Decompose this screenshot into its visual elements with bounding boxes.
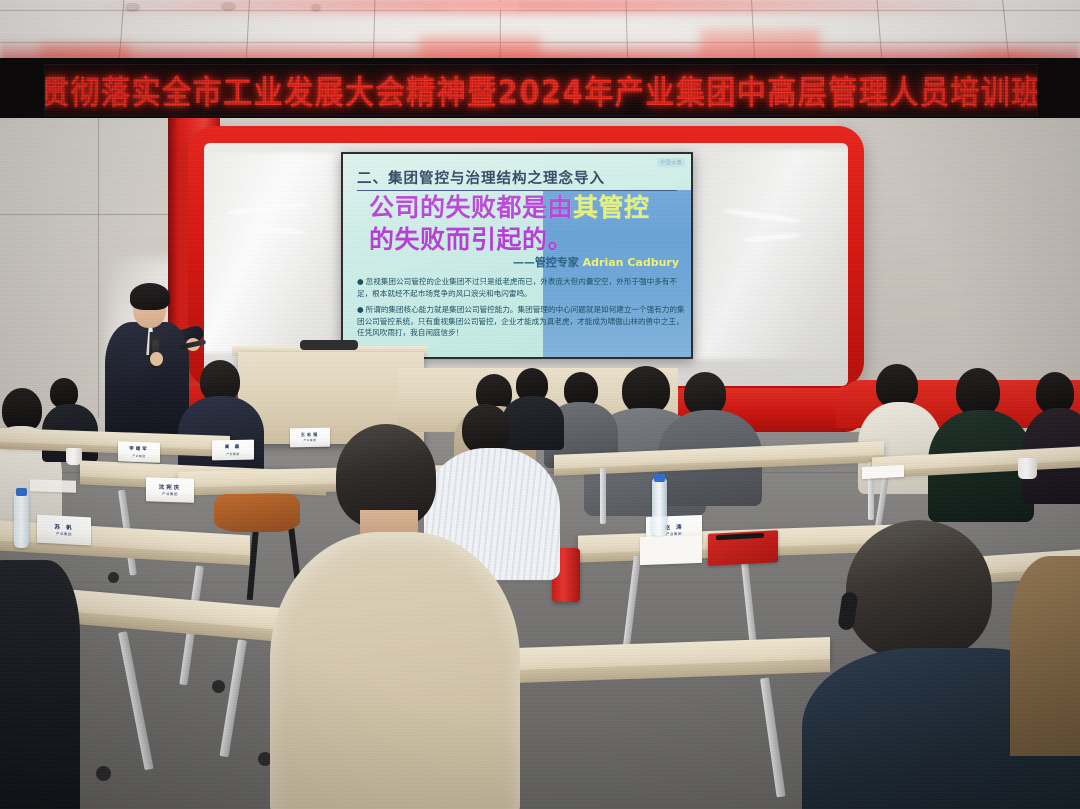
attendee-torso	[502, 396, 564, 450]
name-card: 王志强 产业集团	[290, 428, 330, 448]
water-bottle	[652, 478, 667, 536]
projection-slide: 中国大唐 二、集团管控与治理结构之理念导入 公司的失败都是由其管控 的失败而引起…	[341, 152, 693, 359]
paper-cup	[1018, 458, 1037, 479]
attendee-head	[956, 368, 1000, 416]
presenter-hand	[150, 352, 163, 366]
attendee-head	[622, 366, 670, 414]
bottle-cap	[654, 474, 665, 482]
attendee-head	[462, 404, 510, 454]
handout-paper	[640, 535, 702, 565]
led-banner-bleed	[44, 0, 1036, 12]
name-card-subtitle: 产业集团	[56, 531, 72, 536]
desk-caster	[96, 766, 111, 781]
bottle-cap	[16, 488, 27, 496]
desk-caster	[108, 572, 119, 583]
name-card-name: 高 磊	[225, 444, 242, 450]
name-card-subtitle: 产业集团	[304, 439, 317, 443]
attendee-torso	[270, 532, 520, 809]
right-wall-panel	[836, 118, 1080, 384]
attendee-torso	[0, 560, 80, 809]
classroom-photo: 贯彻落实全市工业发展大会精神暨2024年产业集团中高层管理人员培训班 中国大唐	[0, 0, 1080, 809]
name-card: 李建军 产业集团	[118, 441, 160, 462]
name-card-name: 李建军	[129, 446, 149, 453]
name-card: 苏 帆 产业集团	[37, 515, 91, 546]
desk-leg	[600, 468, 606, 524]
name-card-subtitle: 产业集团	[162, 491, 178, 496]
led-banner-panel: 贯彻落实全市工业发展大会精神暨2024年产业集团中高层管理人员培训班	[44, 64, 1038, 116]
name-card-name: 沈宪庆	[159, 484, 182, 491]
whiteboard-glare	[694, 149, 848, 359]
attendee-torso	[1010, 556, 1080, 756]
slide-attribution: ——管控专家 Adrian Cadbury	[513, 254, 679, 270]
led-banner-text: 贯彻落实全市工业发展大会精神暨2024年产业集团中高层管理人员培训班	[44, 66, 1038, 113]
desk-caster	[212, 680, 225, 693]
name-card-subtitle: 产业集团	[226, 451, 240, 455]
name-card-name: 苏 帆	[55, 524, 74, 531]
slide-bullet-item: ●所谓的集团核心能力就是集团公司管控能力。集团管理的中心问题就是如何建立一个强有…	[357, 304, 685, 339]
slide-quote: 公司的失败都是由其管控 的失败而引起的。	[369, 192, 669, 256]
quote-highlight: 其管控	[573, 193, 650, 222]
quote-part-2: 的失败而引起的。	[369, 225, 573, 254]
name-card-name: 王志强	[301, 432, 320, 438]
coat-on-chair	[214, 494, 300, 532]
bullet-dot-icon: ●	[357, 305, 364, 314]
water-bottle	[14, 492, 29, 548]
name-card: 沈宪庆 产业集团	[146, 477, 194, 503]
attendee-head	[846, 520, 992, 660]
bullet-text: 忽视集团公司管控的企业集团不过只是纸老虎而已，外表庞大但内囊空空，外形于强中多有…	[357, 277, 677, 298]
attribution-cn: ——管控专家	[513, 256, 583, 269]
slide-title: 二、集团管控与治理结构之理念导入	[357, 167, 677, 191]
name-card-name: 赵 涛	[665, 524, 684, 531]
slide-bullet-item: ●忽视集团公司管控的企业集团不过只是纸老虎而已，外表庞大但内囊空空，外形于强中多…	[357, 276, 685, 299]
attribution-en: Adrian Cadbury	[583, 256, 679, 269]
paper-cup	[66, 448, 82, 465]
bullet-dot-icon: ●	[357, 277, 364, 286]
bullet-text: 所谓的集团核心能力就是集团公司管控能力。集团管理的中心问题就是如何建立一个强有力…	[357, 305, 685, 337]
name-card-subtitle: 产业集团	[132, 453, 146, 457]
handout-paper	[862, 465, 904, 479]
quote-part-1: 公司的失败都是由	[369, 193, 573, 222]
name-card: 高 磊 产业集团	[212, 440, 254, 461]
lectern-device	[300, 340, 358, 350]
led-banner: 贯彻落实全市工业发展大会精神暨2024年产业集团中高层管理人员培训班	[0, 58, 1080, 120]
wall-seam	[0, 214, 190, 215]
slide-logo: 中国大唐	[657, 158, 685, 167]
presenter-left-arm	[128, 352, 148, 406]
slide-bullets: ●忽视集团公司管控的企业集团不过只是纸老虎而已，外表庞大但内囊空空，外形于强中多…	[357, 276, 685, 344]
handout-paper	[30, 479, 76, 493]
whiteboard-glare	[204, 153, 354, 353]
presenter-hair	[130, 283, 170, 310]
wall-seam	[98, 118, 99, 418]
